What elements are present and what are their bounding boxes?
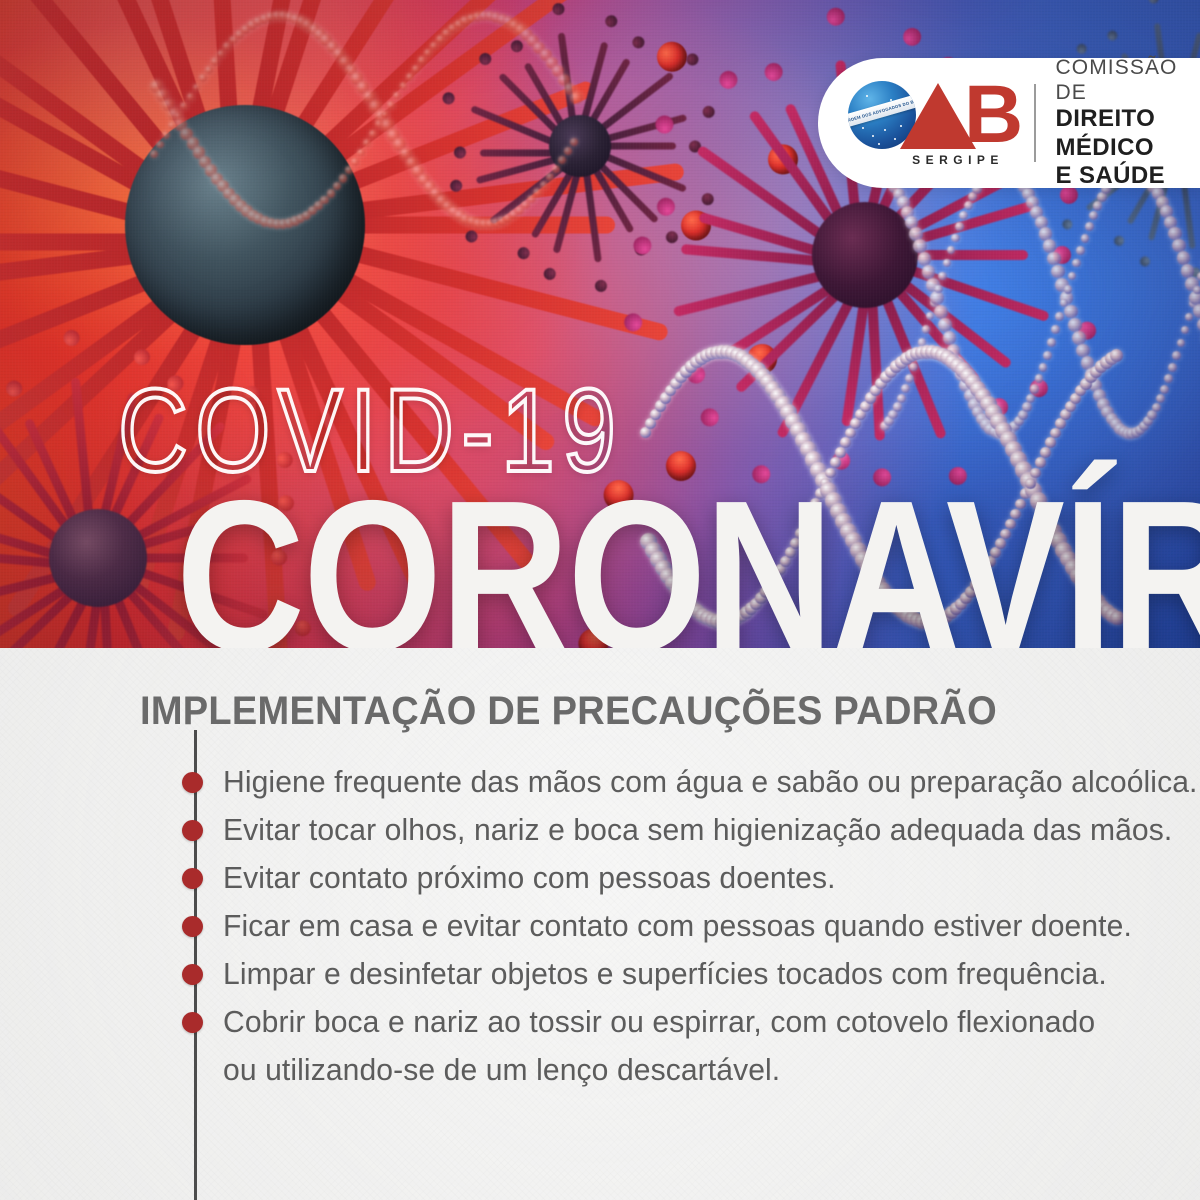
list-item: Ficar em casa e evitar contato com pesso… (0, 902, 1200, 950)
list-item-label: Evitar tocar olhos, nariz e boca sem hig… (223, 806, 1172, 854)
globe-star (866, 95, 868, 97)
list-item-label: ou utilizando-se de um lenço descartável… (223, 1046, 780, 1094)
list-item: Higiene frequente das mãos com água e sa… (0, 758, 1200, 806)
oab-logo-badge: ORDEM DOS ADVOGADOS DO BRASIL B SERGIPE … (818, 58, 1200, 188)
globe-star (878, 143, 880, 145)
oab-letter-b: B (964, 83, 1016, 149)
globe-star (890, 99, 892, 101)
precautions-list: Higiene frequente das mãos com água e sa… (0, 758, 1200, 1094)
commission-line-2: DIREITO MÉDICO (1056, 105, 1200, 162)
bullet-dot-icon (182, 868, 203, 889)
bullet-dot-icon (182, 820, 203, 841)
commission-line-3: E SAÚDE (1056, 162, 1200, 190)
bullet-dot-icon (182, 964, 203, 985)
list-item-label: Cobrir boca e nariz ao tossir ou espirra… (223, 998, 1095, 1046)
bullet-dot-icon (182, 916, 203, 937)
bullet-dot-icon (182, 1012, 203, 1033)
list-item: ou utilizando-se de um lenço descartável… (0, 1046, 1200, 1094)
page-title: IMPLEMENTAÇÃO DE PRECAUÇÕES PADRÃO (140, 689, 997, 734)
globe-star (872, 135, 874, 137)
commission-line-1: COMISSÃO DE (1056, 56, 1200, 106)
globe-star (862, 127, 864, 129)
list-item: Evitar contato próximo com pessoas doent… (0, 854, 1200, 902)
list-item-label: Higiene frequente das mãos com água e sa… (223, 758, 1197, 806)
bullet-dot-icon (182, 772, 203, 793)
oab-section-label: SERGIPE (896, 153, 1020, 167)
list-item: Evitar tocar olhos, nariz e boca sem hig… (0, 806, 1200, 854)
oab-logo-mark: ORDEM DOS ADVOGADOS DO BRASIL B SERGIPE (848, 75, 1020, 171)
globe-star (894, 138, 896, 140)
list-item: Cobrir boca e nariz ao tossir ou espirra… (0, 998, 1200, 1046)
list-item-label: Evitar contato próximo com pessoas doent… (223, 854, 836, 902)
globe-star (884, 129, 886, 131)
hero-main-title: CORONAVÍRUS (176, 468, 1200, 648)
list-item-label: Ficar em casa e evitar contato com pesso… (223, 902, 1132, 950)
commission-name: COMISSÃO DE DIREITO MÉDICO E SAÚDE (1056, 56, 1200, 190)
list-item: Limpar e desinfetar objetos e superfície… (0, 950, 1200, 998)
list-item-label: Limpar e desinfetar objetos e superfície… (223, 950, 1107, 998)
logo-divider (1034, 84, 1036, 162)
